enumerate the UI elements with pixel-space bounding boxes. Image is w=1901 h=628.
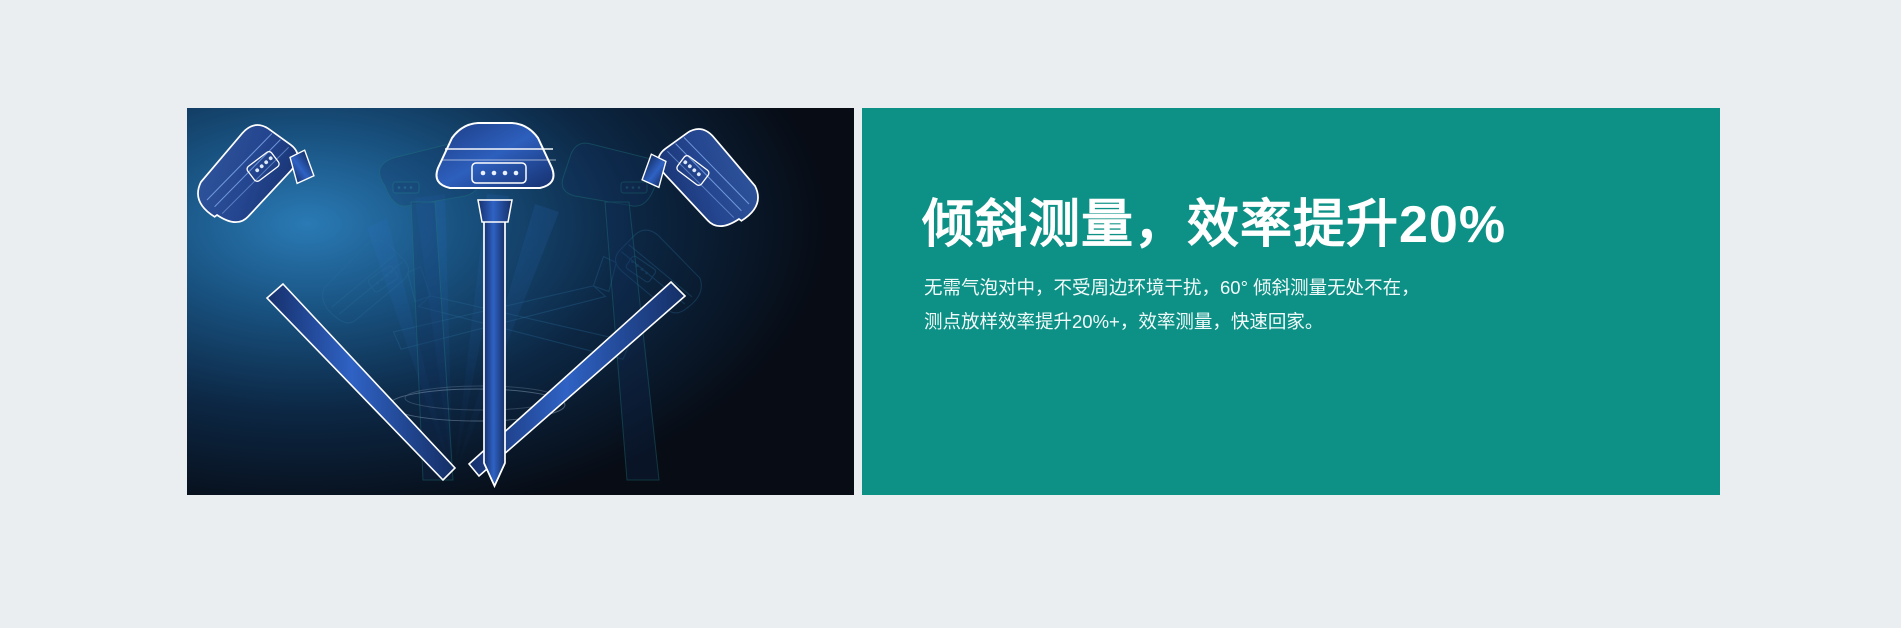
copy-panel: 倾斜测量，效率提升20% 无需气泡对中，不受周边环境干扰，60° 倾斜测量无处不… xyxy=(862,108,1720,495)
illustration-canvas xyxy=(187,108,854,495)
subcopy-line-2: 测点放样效率提升20%+，效率测量，快速回家。 xyxy=(924,305,1694,339)
gnss-tilt-survey-illustration xyxy=(187,108,854,495)
feature-banner: 倾斜测量，效率提升20% 无需气泡对中，不受周边环境干扰，60° 倾斜测量无处不… xyxy=(0,0,1901,628)
page-title: 倾斜测量，效率提升20% xyxy=(922,196,1702,254)
pole-collar-center xyxy=(478,200,512,222)
survey-pole-center xyxy=(484,220,505,486)
subcopy-block: 无需气泡对中，不受周边环境干扰，60° 倾斜测量无处不在， 测点放样效率提升20… xyxy=(924,271,1694,339)
subcopy-line-1: 无需气泡对中，不受周边环境干扰，60° 倾斜测量无处不在， xyxy=(924,271,1694,305)
